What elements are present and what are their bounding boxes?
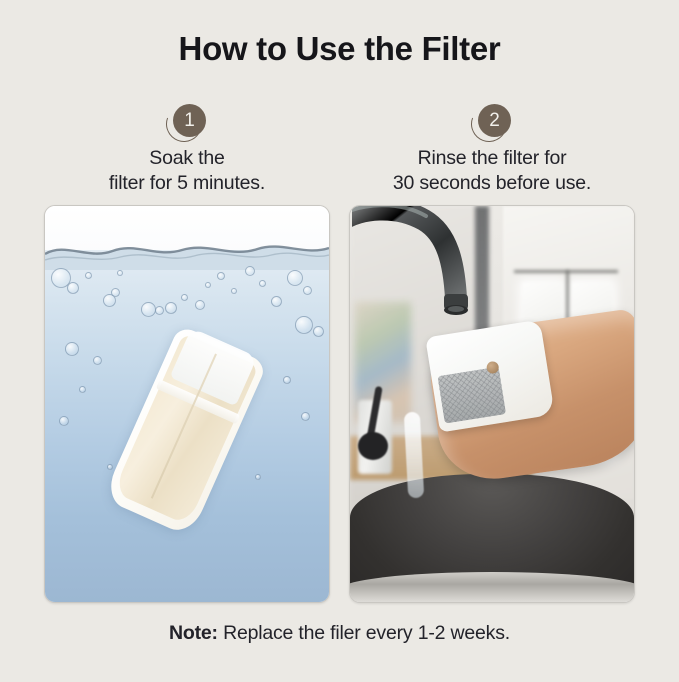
bubble	[217, 272, 225, 280]
step-1-badge: 1	[166, 104, 208, 139]
step-2-photo	[349, 205, 635, 603]
bubble	[303, 286, 312, 295]
step-1-caption-line2: filter for 5 minutes.	[109, 171, 265, 196]
bubble	[271, 296, 282, 307]
sink-rim	[349, 572, 635, 602]
bubble	[79, 386, 86, 393]
bubble	[155, 306, 164, 315]
step-1-header: 1 Soak the filter for 5 minutes.	[44, 104, 330, 196]
bubble	[85, 272, 92, 279]
bubble	[67, 282, 79, 294]
bubble	[245, 266, 255, 276]
note-text: Replace the filer every 1-2 weeks.	[223, 622, 510, 644]
step-2-caption: Rinse the filter for 30 seconds before u…	[393, 146, 591, 196]
steps-gap	[330, 104, 349, 196]
bubble	[287, 270, 303, 286]
bubble	[255, 474, 261, 480]
bubble	[165, 302, 177, 314]
steps-header-row: 1 Soak the filter for 5 minutes. 2 Rinse…	[44, 104, 635, 196]
bubble	[283, 376, 291, 384]
filter-pouch-in-hand	[425, 320, 555, 433]
step-2-badge: 2	[471, 104, 513, 139]
dish-brush-head	[358, 432, 388, 460]
bubble	[59, 416, 69, 426]
bubble	[205, 282, 211, 288]
step-2-caption-line2: 30 seconds before use.	[393, 171, 591, 196]
bubble	[231, 288, 237, 294]
panels-gap	[330, 205, 349, 603]
page-title: How to Use the Filter	[0, 30, 679, 68]
bubble	[295, 316, 313, 334]
bubble	[65, 342, 79, 356]
bubble	[111, 288, 120, 297]
bubble	[141, 302, 156, 317]
bubble	[195, 300, 205, 310]
step-1-photo	[44, 205, 330, 603]
step-1-caption-line1: Soak the	[109, 146, 265, 171]
bubble	[181, 294, 188, 301]
infographic-page: How to Use the Filter 1 Soak the filter …	[0, 0, 679, 682]
bubble	[107, 464, 113, 470]
step-2-number: 2	[478, 104, 511, 137]
photo-panels	[44, 205, 635, 603]
step-2-header: 2 Rinse the filter for 30 seconds before…	[349, 104, 635, 196]
bubble	[313, 326, 324, 337]
bubble	[259, 280, 266, 287]
note-label: Note:	[169, 622, 218, 644]
note-line: Note: Replace the filer every 1-2 weeks.	[0, 622, 679, 645]
step-1-number: 1	[173, 104, 206, 137]
step-1-caption: Soak the filter for 5 minutes.	[109, 146, 265, 196]
bubble	[93, 356, 102, 365]
bubble	[117, 270, 123, 276]
waterline-icon	[45, 234, 329, 270]
step-2-caption-line1: Rinse the filter for	[393, 146, 591, 171]
bubble	[301, 412, 310, 421]
pouch-carbon-mesh	[437, 367, 506, 424]
